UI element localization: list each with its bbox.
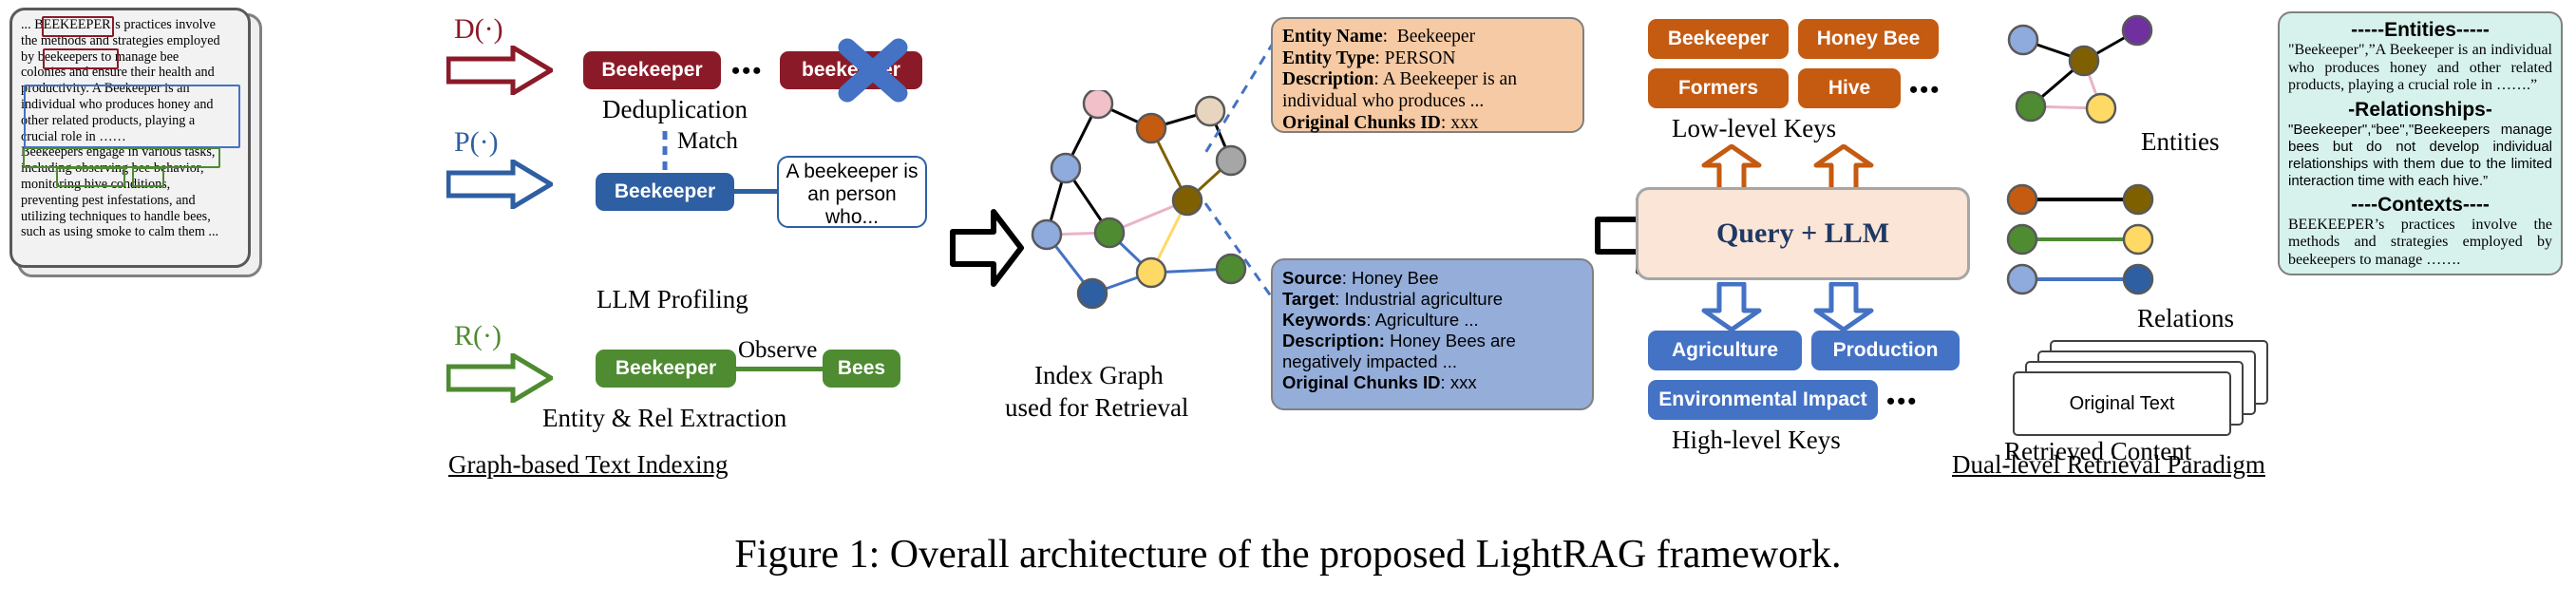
profile-link-line (733, 189, 779, 194)
high-level-key-production: Production (1811, 331, 1960, 370)
caption-entity-rel-extraction: Entity & Rel Extraction (542, 404, 786, 433)
caption-high-level-keys: High-level Keys (1672, 426, 1841, 455)
relations-mini-edges (1999, 179, 2180, 307)
arrow-profiling (446, 160, 553, 209)
caption-index-graph-line2: used for Retrieval (1005, 393, 1188, 423)
lightrag-architecture-figure: ... BEEKEEPER‘s practices involve the me… (0, 0, 2576, 606)
caption-llm-profiling: LLM Profiling (597, 285, 748, 314)
connector-relation-card (1202, 199, 1278, 309)
entity-card-value-1: PERSON (1385, 48, 1456, 68)
entity-card-label-2: Description (1282, 69, 1373, 89)
relation-card-label-0: Source (1282, 268, 1342, 288)
caption-relations: Relations (2137, 304, 2234, 333)
context-heading-entities: -----Entities----- (2288, 19, 2552, 42)
high-level-key-environmental-impact: Environmental Impact (1648, 380, 1878, 420)
entity-card-value-3: xxx (1450, 113, 1478, 133)
context-body-entities: "Beekeeper",”A Beekeeper is an individua… (2288, 42, 2552, 95)
caption-index-graph-line1: Index Graph (1034, 361, 1164, 390)
label-observe: Observe (738, 337, 817, 364)
section-title-graph-indexing: Graph-based Text Indexing (448, 450, 729, 480)
extraction-pill-target: Bees (823, 350, 900, 388)
operator-label-extraction: R(·) (454, 320, 502, 352)
low-level-key-formers: Formers (1648, 68, 1789, 108)
operator-label-dedup: D(·) (454, 13, 503, 46)
doc-line: other related products, playing a (21, 113, 239, 129)
doc-line: ... BEEKEEPER‘s practices involve (21, 17, 239, 33)
relation-edge-line (736, 367, 824, 371)
relation-card-label-3: Description: (1282, 331, 1385, 350)
doc-line: by beekeepers to manage bee (21, 49, 239, 66)
doc-line: preventing pest infestations, and (21, 193, 239, 209)
relation-card-value-0: Honey Bee (1352, 268, 1439, 288)
low-level-key-honey-bee: Honey Bee (1798, 19, 1939, 59)
context-heading-relationships: -Relationships- (2288, 99, 2552, 122)
dedup-ellipsis: ••• (731, 57, 763, 85)
doc-line: the methods and strategies employed (21, 33, 239, 49)
entity-card-value-0: Beekeeper (1397, 27, 1475, 47)
caption-deduplication: Deduplication (602, 95, 748, 124)
doc-line: colonies and ensure their health and (21, 65, 239, 81)
arrow-down-high-1 (1700, 282, 1763, 336)
profile-description-box: A beekeeper is an person who... (777, 156, 927, 228)
original-text-label: Original Text (2070, 393, 2175, 415)
extraction-pill-source: Beekeeper (596, 350, 736, 388)
relation-card-value-2: Agriculture ... (1375, 310, 1479, 330)
relation-card-label-2: Keywords (1282, 310, 1366, 330)
doc-line: productivity. A Beekeeper is an (21, 81, 239, 97)
arrow-dedup (446, 46, 553, 95)
dedup-pill-1: Beekeeper (583, 51, 721, 89)
arrow-down-high-2 (1812, 282, 1875, 336)
doc-line: such as using smoke to calm them ... (21, 224, 239, 240)
caption-entities: Entities (2141, 127, 2220, 157)
source-document-panel: ... BEEKEEPER‘s practices involve the me… (9, 8, 251, 268)
retrieved-context-panel: -----Entities----- "Beekeeper",”A Beekee… (2278, 11, 2563, 275)
context-body-relationships: "Beekeeper",“bee","Beekeepers manage bee… (2288, 122, 2552, 190)
context-heading-contexts: ----Contexts---- (2288, 194, 2552, 217)
doc-line: monitoring hive conditions, (21, 177, 239, 193)
high-level-keys-ellipsis: ••• (1886, 388, 1918, 416)
label-match: Match (677, 128, 738, 155)
entity-card-label-3: Original Chunks ID (1282, 113, 1441, 133)
doc-line: individual who produces honey and (21, 97, 239, 113)
entity-card-label-0: Entity Name (1282, 27, 1383, 47)
caption-low-level-keys: Low-level Keys (1672, 114, 1836, 143)
profiling-pill: Beekeeper (596, 173, 734, 211)
entity-card-label-1: Entity Type (1282, 48, 1374, 68)
arrow-extraction (446, 353, 553, 403)
doc-line: crucial role in …… (21, 129, 239, 145)
relation-card-value-4: xxx (1450, 372, 1477, 392)
entity-record-card: Entity Name: Beekeeper Entity Type: PERS… (1271, 17, 1584, 133)
low-level-keys-ellipsis: ••• (1909, 76, 1941, 104)
relation-card-label-4: Original Chunks ID (1282, 372, 1441, 392)
doc-line: utilizing techniques to handle bees, (21, 209, 239, 225)
doc-line: Beekeepers engage in various tasks, (21, 144, 239, 161)
high-level-key-agriculture: Agriculture (1648, 331, 1802, 370)
figure-caption: Figure 1: Overall architecture of the pr… (0, 532, 2576, 578)
section-title-dual-level-retrieval: Dual-level Retrieval Paradigm (1952, 450, 2265, 480)
context-body-contexts: BEEKEEPER’s practices involve the method… (2288, 217, 2552, 270)
query-llm-box: Query + LLM (1636, 187, 1970, 280)
low-level-key-hive: Hive (1798, 68, 1901, 108)
original-text-card: Original Text (2013, 371, 2231, 436)
relation-card-label-1: Target (1282, 289, 1335, 309)
cross-out-icon (836, 36, 910, 109)
low-level-key-beekeeper: Beekeeper (1648, 19, 1789, 59)
doc-line: including observing bee behavior, (21, 161, 239, 177)
operator-label-profiling: P(·) (454, 126, 499, 159)
relation-record-card: Source: Honey Bee Target: Industrial agr… (1271, 258, 1594, 410)
relation-card-value-1: Industrial agriculture (1344, 289, 1503, 309)
connector-entity-card (1202, 38, 1278, 161)
